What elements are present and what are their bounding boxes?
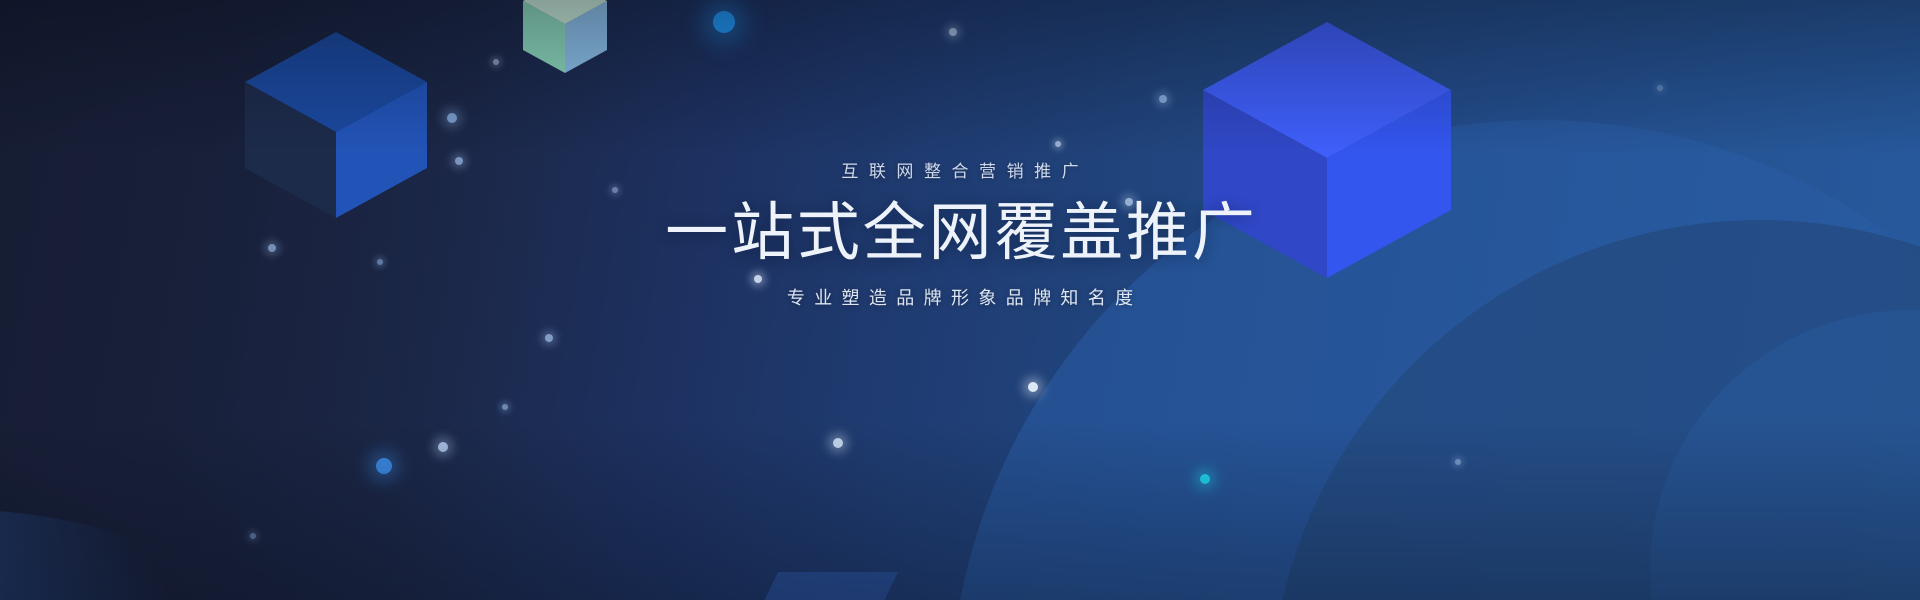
particle-dot <box>545 334 553 342</box>
particle-dot <box>949 28 957 36</box>
particle-dot <box>250 533 256 539</box>
mint-cube <box>523 0 607 86</box>
particle-dot <box>1028 382 1038 392</box>
particle-dot <box>1657 85 1663 91</box>
particle-dot <box>376 458 392 474</box>
particle-dot <box>502 404 508 410</box>
particle-dot <box>493 59 499 65</box>
hero-headline: 一站式全网覆盖推广 <box>0 198 1920 269</box>
mint-cube-icon <box>523 0 607 86</box>
particle-dot <box>713 11 735 33</box>
background-arc-accent <box>1650 310 1920 600</box>
hero-banner: 互联网整合营销推广 一站式全网覆盖推广 专业塑造品牌形象品牌知名度 <box>0 0 1920 600</box>
particle-dot <box>447 113 457 123</box>
particle-dot <box>1200 474 1210 484</box>
hero-copy: 互联网整合营销推广 一站式全网覆盖推广 专业塑造品牌形象品牌知名度 <box>0 162 1920 310</box>
particle-dot <box>438 442 448 452</box>
particle-dot <box>833 438 843 448</box>
hero-subline: 专业塑造品牌形象品牌知名度 <box>0 288 1920 310</box>
particle-dot <box>1055 141 1061 147</box>
bottom-center-wedge <box>742 572 898 600</box>
hero-eyebrow: 互联网整合营销推广 <box>0 162 1920 182</box>
bottom-left-wedge <box>0 510 220 600</box>
particle-dot <box>1455 459 1461 465</box>
particle-dot <box>1159 95 1167 103</box>
